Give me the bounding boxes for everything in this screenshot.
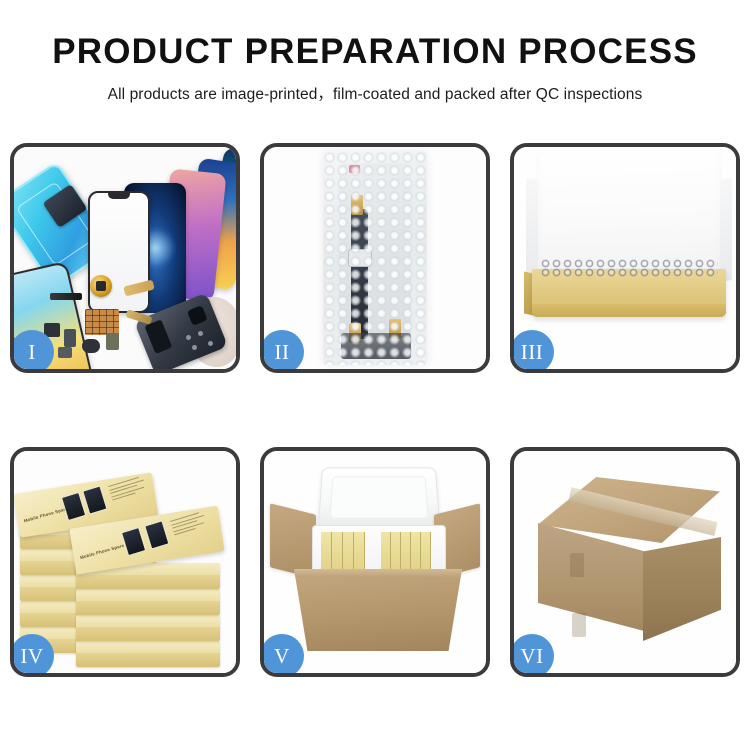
speaker-module: [50, 293, 82, 300]
step-badge-4: IV: [10, 634, 54, 677]
stacked-box: [76, 589, 220, 615]
foam-lid: [318, 467, 441, 529]
small-part-f: [58, 347, 72, 358]
process-step-1: I: [10, 143, 240, 373]
step-badge-5: V: [260, 634, 304, 677]
stacked-box: [76, 641, 220, 667]
small-part-b: [64, 329, 76, 347]
copper-coil: [90, 275, 112, 297]
box-art-screen: [144, 520, 169, 549]
carton-flap-mark-1: [570, 553, 584, 577]
page-title: PRODUCT PREPARATION PROCESS: [0, 34, 750, 69]
box-spec-lines: [170, 509, 214, 540]
screws: [184, 331, 218, 353]
process-step-4: Mobile Phone Spare Parts Mobile Phone Sp…: [10, 447, 240, 677]
box-spec-lines: [108, 474, 152, 505]
small-part-c: [82, 339, 100, 353]
page-subtitle: All products are image-printed，film-coat…: [0, 82, 750, 104]
box-art-screen: [121, 527, 146, 556]
step-badge-6: VI: [510, 634, 554, 677]
process-step-3: III: [510, 143, 740, 373]
carton-side-face: [643, 537, 721, 641]
infographic-page: PRODUCT PREPARATION PROCESS All products…: [0, 0, 750, 750]
step-badge-2: II: [260, 330, 304, 373]
kraft-box-tray: [532, 269, 726, 317]
carton-flap-mark-2: [572, 613, 586, 637]
bubble-wrap-bag: [323, 151, 427, 365]
process-step-grid: I II: [10, 143, 740, 677]
shipping-carton-open: [294, 569, 462, 651]
carton-flap-left: [270, 503, 316, 578]
box-art-screen: [61, 492, 86, 521]
process-step-2: II: [260, 143, 490, 373]
small-part-d: [106, 333, 119, 350]
bubble-texture: [323, 151, 427, 365]
chip-grid: [85, 309, 119, 335]
process-step-5: V: [260, 447, 490, 677]
carton-front-face: [538, 523, 644, 631]
header: PRODUCT PREPARATION PROCESS All products…: [0, 0, 750, 104]
step-badge-1: I: [10, 330, 54, 373]
box-art-screen: [82, 485, 107, 514]
stacked-box: [76, 615, 220, 641]
step-badge-3: III: [510, 330, 554, 373]
process-step-6: VI: [510, 447, 740, 677]
